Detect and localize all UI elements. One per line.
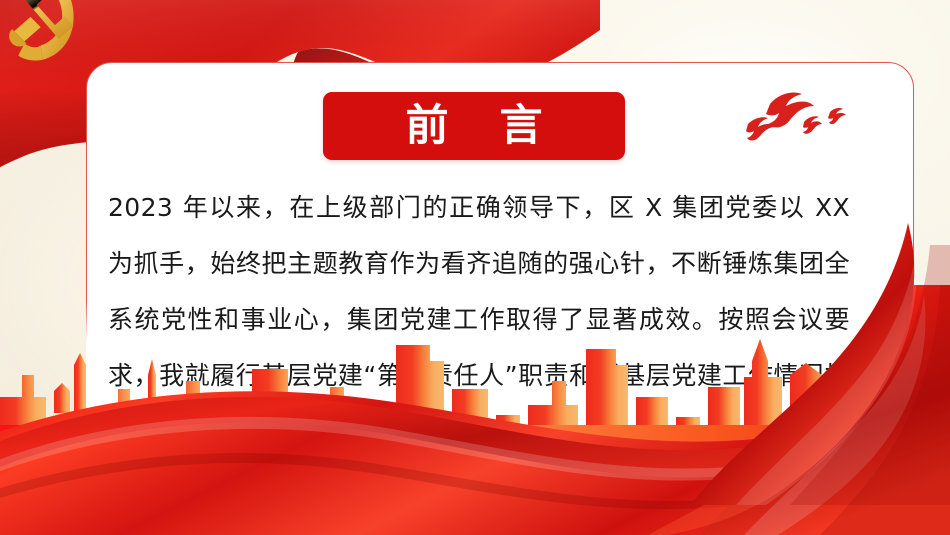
red-silk-drape [540,205,950,505]
dove-icon [803,116,822,134]
flying-doves-decoration [742,84,872,146]
page-title: 前 言 [388,105,561,148]
section-title-banner: 前 言 [323,92,625,160]
dove-icon [746,117,775,140]
dove-icon [828,108,846,124]
cpc-hammer-sickle-emblem [9,0,74,61]
slide-root: 前 言 2023 年以来，在上级部门的正确领导下，区 X 集团党委以 XX 为抓… [0,0,950,535]
